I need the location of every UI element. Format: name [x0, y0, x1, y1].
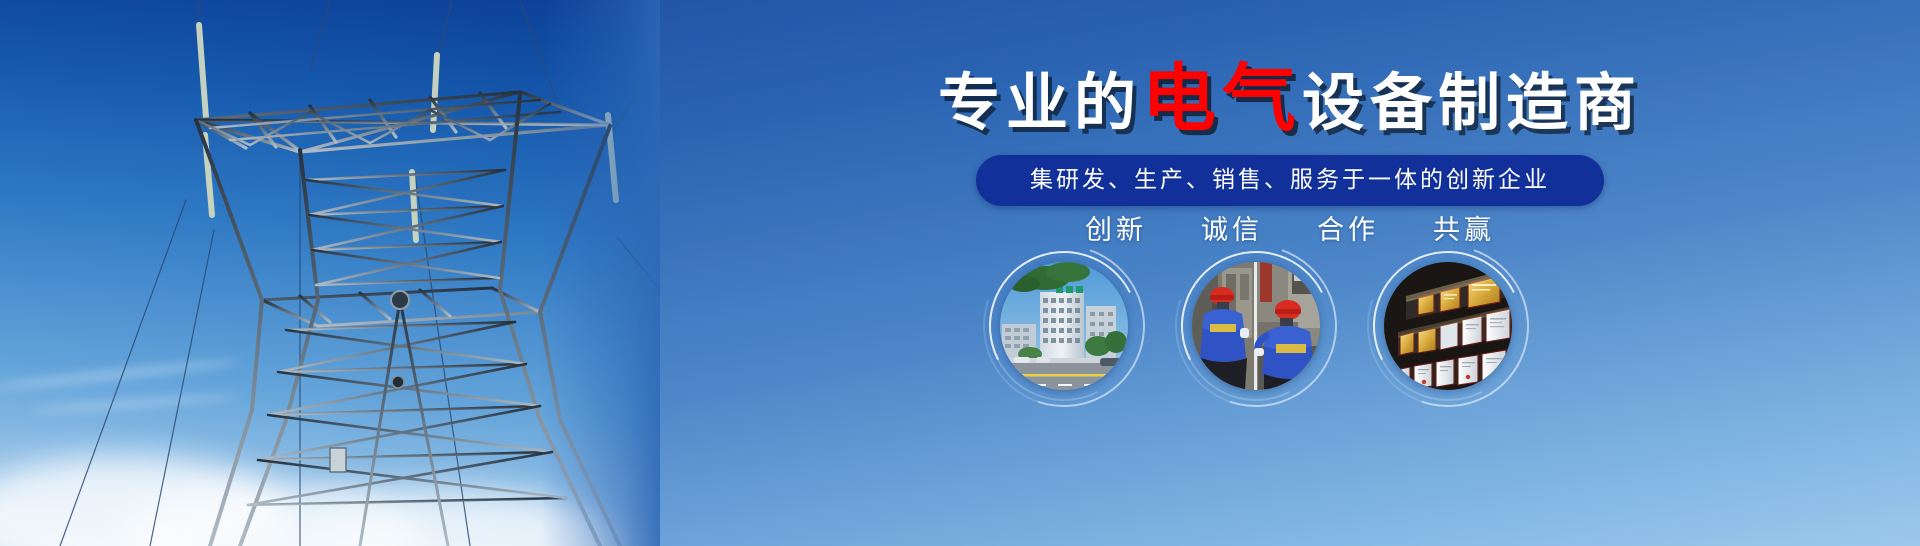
- photo-circle-group: 公司办公大楼: [660, 262, 1920, 546]
- keyword-row: 创新诚信合作共赢: [660, 208, 1920, 247]
- workers-photo: [1192, 262, 1320, 390]
- keyword-chuangxin: 创新: [1085, 215, 1147, 245]
- subtitle-pill: 集研发、生产、销售、服务于一体的创新企业: [976, 155, 1604, 206]
- office-building-caption: 公司办公大楼: [1000, 262, 1001, 263]
- promo-banner: 专业的电气设备制造商 集研发、生产、销售、服务于一体的创新企业 创新诚信合作共赢: [0, 0, 1920, 546]
- keyword-hezuo: 合作: [1317, 215, 1379, 245]
- headline-part-3: 设备制造商: [1302, 69, 1642, 138]
- headline-part-1: 专业的: [938, 69, 1142, 138]
- keyword-gongying: 共赢: [1433, 215, 1495, 245]
- workers-caption: 身穿蓝色工服戴红色安全帽的工人安装设备: [1192, 262, 1193, 263]
- certificate-wall-photo: [1384, 262, 1512, 390]
- banner-content: 专业的电气设备制造商 集研发、生产、销售、服务于一体的创新企业 创新诚信合作共赢: [660, 0, 1920, 546]
- headline-accent-dianqi: 电气: [1142, 57, 1302, 140]
- transmission-tower-photo: [0, 0, 660, 546]
- photo-circle-certificates[interactable]: 荣誉证书陈列墙: [1384, 262, 1512, 390]
- photo-circle-workers[interactable]: 身穿蓝色工服戴红色安全帽的工人安装设备: [1192, 262, 1320, 390]
- page-title: 专业的电气设备制造商: [660, 62, 1920, 136]
- keyword-chengxin: 诚信: [1201, 215, 1263, 245]
- pylon-illustration: [0, 0, 660, 546]
- subtitle-pill-wrapper: 集研发、生产、销售、服务于一体的创新企业: [660, 155, 1920, 206]
- office-building-photo: [1000, 262, 1128, 390]
- certificate-wall-caption: 荣誉证书陈列墙: [1384, 262, 1385, 263]
- photo-circle-office-building[interactable]: 公司办公大楼: [1000, 262, 1128, 390]
